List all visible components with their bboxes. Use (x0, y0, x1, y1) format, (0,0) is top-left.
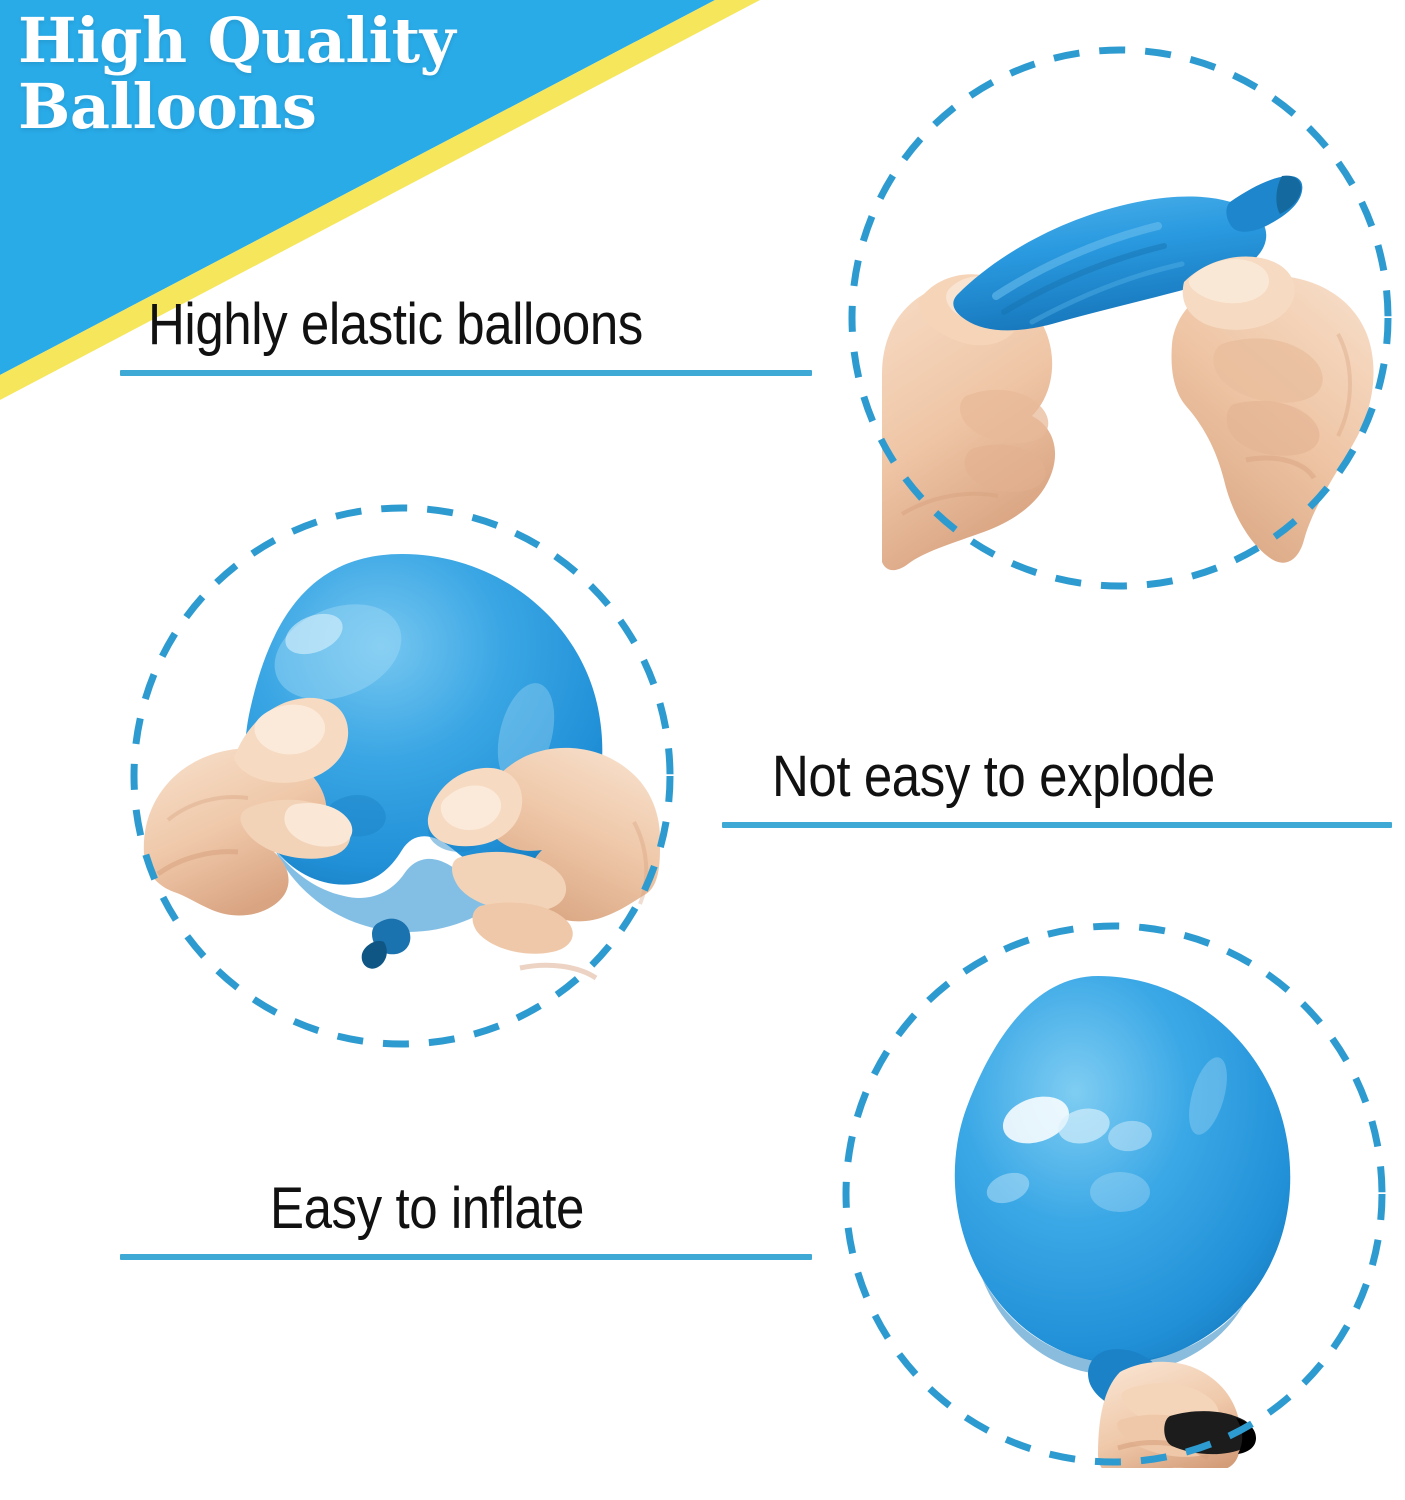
infographic-canvas: High Quality Balloons Highly elastic bal… (0, 0, 1405, 1500)
feature-label-not-easy-to-explode: Not easy to explode (772, 748, 1318, 806)
feature-block-easy-to-inflate: Easy to inflate (120, 1180, 812, 1260)
feature-block-highly-elastic: Highly elastic balloons (120, 296, 812, 376)
photo-squeezing-balloon (128, 502, 676, 1050)
feature-label-easy-to-inflate: Easy to inflate (270, 1180, 747, 1238)
feature-underline-easy-to-inflate (120, 1254, 812, 1260)
right-hand (428, 748, 660, 978)
feature-underline-not-easy-to-explode (722, 822, 1392, 828)
hand-with-pump-nozzle (1098, 1362, 1256, 1468)
photo-art-squeezing-balloon (128, 502, 676, 1050)
page-title-line-1: High Quality (18, 10, 638, 72)
feature-block-not-easy-to-explode: Not easy to explode (722, 748, 1392, 828)
page-title-line-2: Balloons (18, 76, 638, 138)
photo-inflating-balloon (840, 920, 1388, 1468)
photo-stretching-balloon (846, 44, 1394, 592)
feature-label-highly-elastic: Highly elastic balloons (148, 296, 732, 354)
feature-underline-highly-elastic (120, 370, 812, 376)
photo-art-stretching-balloon (846, 44, 1394, 592)
inflating-balloon (955, 976, 1290, 1411)
right-hand (1172, 256, 1374, 562)
page-title: High Quality Balloons (18, 10, 638, 138)
photo-art-inflating-balloon (840, 920, 1388, 1468)
